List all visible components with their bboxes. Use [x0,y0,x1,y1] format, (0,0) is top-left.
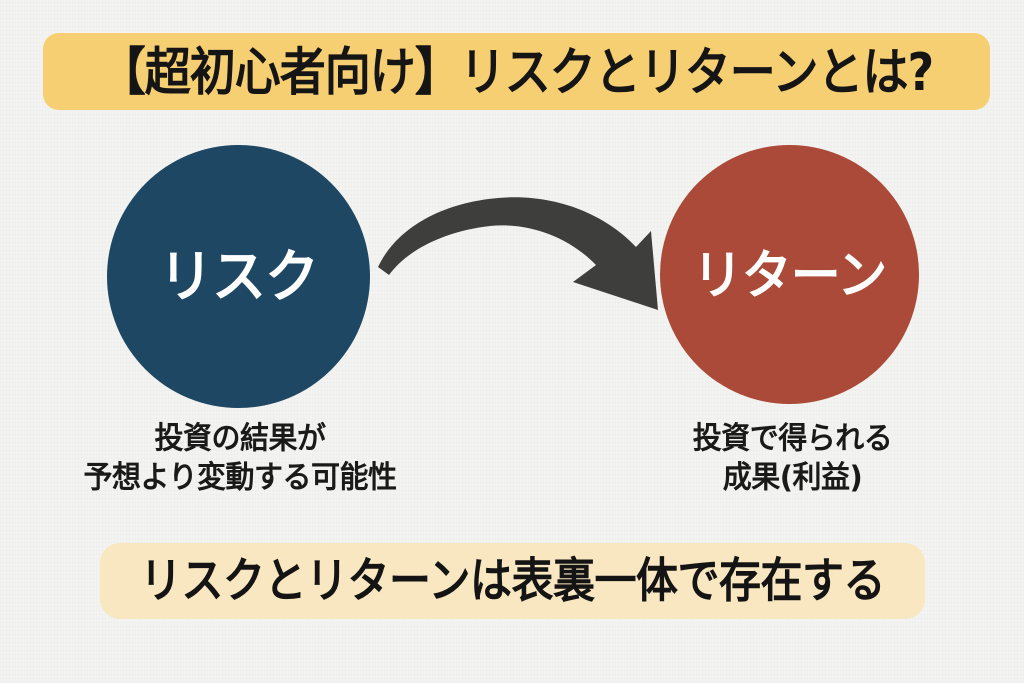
risk-caption-line-1: 投資の結果が [10,419,470,458]
return-caption-line-2: 成果(利益) [620,458,965,497]
title-banner: 【超初心者向け】リスクとリターンとは? [43,33,990,110]
risk-circle-label: リスク [159,248,318,305]
title-text: 【超初心者向け】リスクとリターンとは? [100,46,933,98]
risk-caption-line-2: 予想より変動する可能性 [10,458,470,497]
summary-banner: リスクとリターンは表裏一体で存在する [100,543,925,619]
risk-caption: 投資の結果が 予想より変動する可能性 [10,419,470,497]
summary-text: リスクとリターンは表裏一体で存在する [140,557,885,605]
return-caption: 投資で得られる 成果(利益) [620,419,965,497]
return-circle-label: リターン [693,248,887,301]
return-circle: リターン [660,145,919,404]
return-caption-line-1: 投資で得られる [620,419,965,458]
curved-arrow-right-icon [370,185,660,310]
risk-circle: リスク [107,145,370,408]
infographic-canvas: 【超初心者向け】リスクとリターンとは? リスク リターン 投資の結果が 予想より… [0,0,1024,683]
